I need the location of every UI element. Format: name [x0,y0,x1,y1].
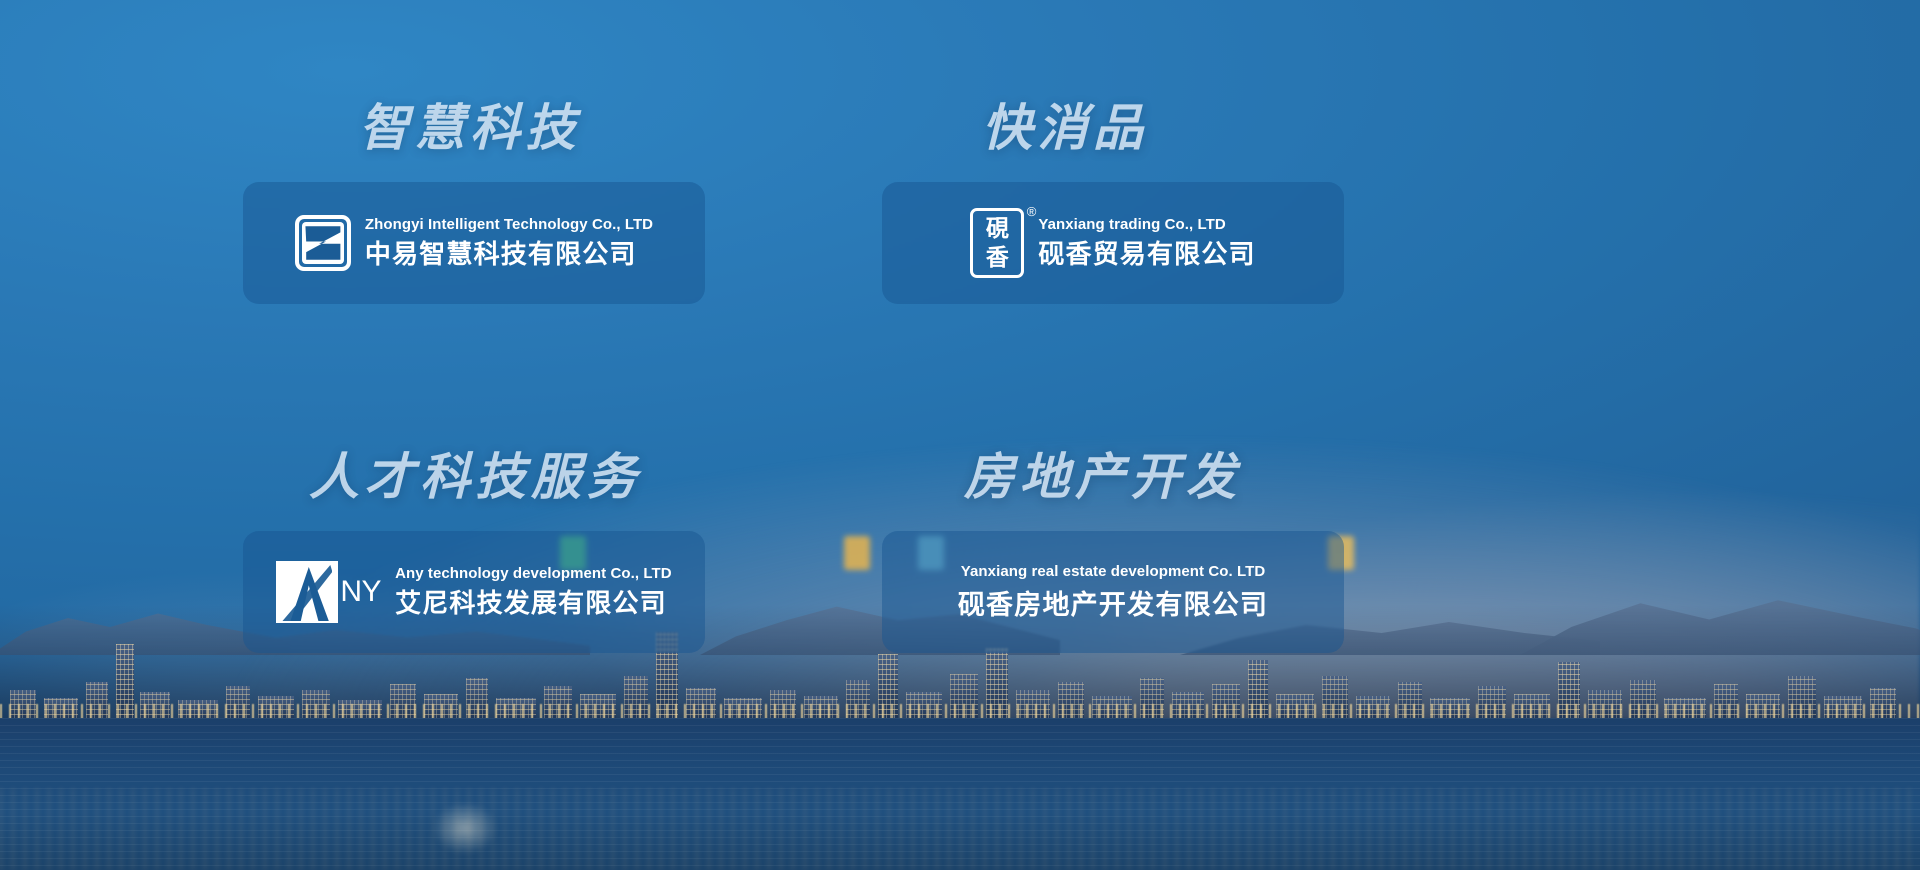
section-heading-fmcg: 快消品 [882,100,1344,156]
company-name-cn: 中易智慧科技有限公司 [365,238,653,271]
promo-banner: 智慧科技 Zhongyi Intelligent Technology Co.,… [0,0,1920,870]
registered-trademark-icon: ® [1027,205,1037,218]
section-heading-real-estate: 房地产开发 [882,449,1344,505]
company-card-yanxiang-real-estate[interactable]: Yanxiang real estate development Co. LTD… [882,531,1344,653]
company-names: Any technology development Co., LTD 艾尼科技… [395,564,672,620]
segments-grid: 智慧科技 Zhongyi Intelligent Technology Co.,… [0,0,1920,870]
company-card-zhongyi[interactable]: Zhongyi Intelligent Technology Co., LTD … [243,182,705,304]
company-name-cn: 砚香贸易有限公司 [1038,238,1255,271]
company-card-any-technology[interactable]: NY Any technology development Co., LTD 艾… [243,531,705,653]
company-name-en: Yanxiang real estate development Co. LTD [961,562,1265,582]
section-heading-smart-technology: 智慧科技 [243,100,705,156]
company-names: Yanxiang trading Co., LTD 砚香贸易有限公司 [1038,215,1255,271]
yanxiang-seal-icon: 硯 香 ® [970,208,1024,278]
zhongyi-bolt-icon [295,215,351,271]
company-names: Yanxiang real estate development Co. LTD… [958,562,1268,623]
company-name-en: Yanxiang trading Co., LTD [1038,215,1255,235]
section-heading-talent-services: 人才科技服务 [243,449,705,505]
company-name-en: Any technology development Co., LTD [395,564,672,584]
company-name-en: Zhongyi Intelligent Technology Co., LTD [365,215,653,235]
segment-talent-services: 人才科技服务 NY Any technology development Co.… [0,463,960,870]
seal-char-top: 硯 [970,217,1024,240]
company-name-cn: 砚香房地产开发有限公司 [958,589,1268,623]
company-name-cn: 艾尼科技发展有限公司 [395,587,672,620]
company-card-yanxiang-trading[interactable]: 硯 香 ® Yanxiang trading Co., LTD 砚香贸易有限公司 [882,182,1344,304]
seal-char-bottom: 香 [970,246,1024,269]
any-wordmark: NY [340,575,381,609]
segment-fmcg: 快消品 硯 香 ® Yanxiang trading Co., LTD 砚香贸易… [960,56,1920,463]
company-names: Zhongyi Intelligent Technology Co., LTD … [365,215,653,271]
segment-smart-technology: 智慧科技 Zhongyi Intelligent Technology Co.,… [0,56,960,463]
any-mountain-icon: NY [276,561,381,623]
segment-real-estate: 房地产开发 Yanxiang real estate development C… [960,463,1920,870]
